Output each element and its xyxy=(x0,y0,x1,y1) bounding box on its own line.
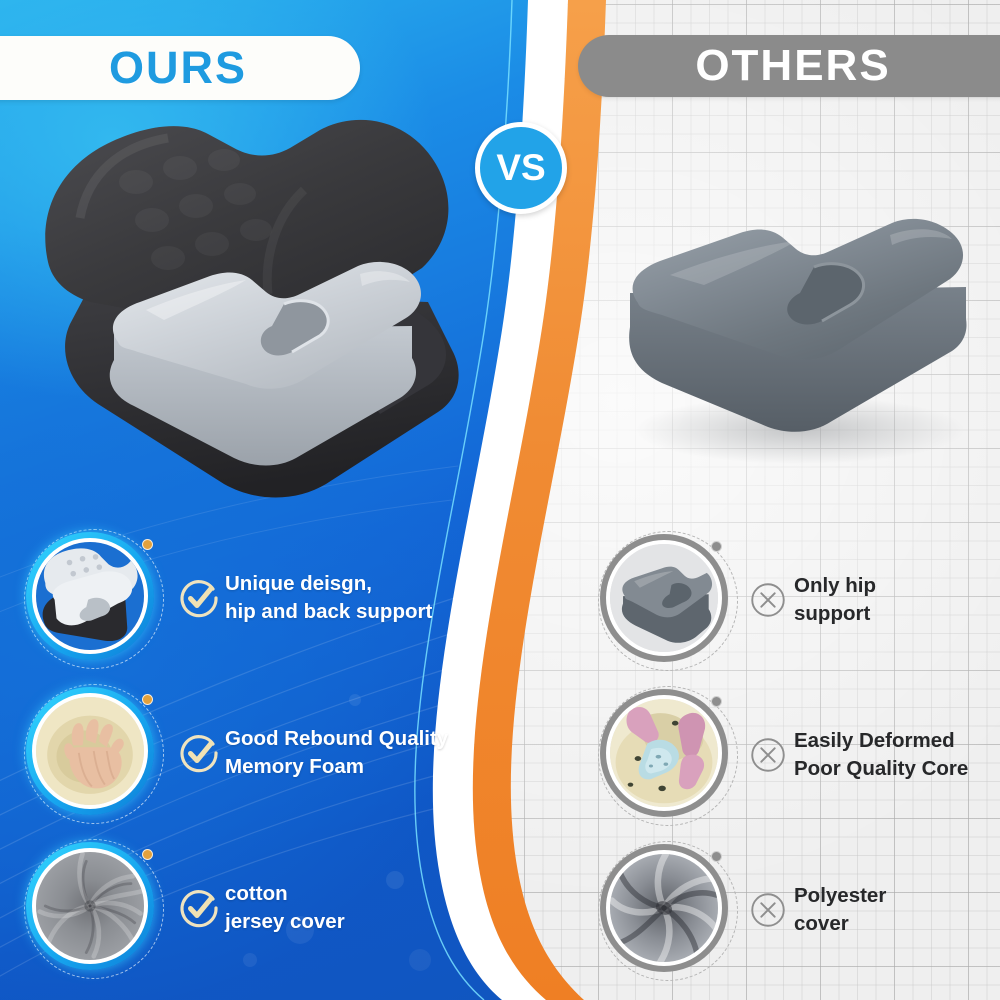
ours-feature-text: Unique deisgn, hip and back support xyxy=(225,570,432,625)
ours-banner-label: OURS xyxy=(109,42,247,94)
vs-badge-label: VS xyxy=(496,147,545,189)
cross-icon xyxy=(742,579,794,621)
ours-feature-row: cotton jersey cover xyxy=(18,830,488,985)
thumbnail-image xyxy=(32,693,148,809)
thumbnail-polyester-fabric xyxy=(592,835,742,985)
cross-icon xyxy=(742,734,794,776)
others-feature-text: Polyester cover xyxy=(794,882,886,937)
ours-feature-row: Unique deisgn, hip and back support xyxy=(18,520,488,675)
ring-dot-marker xyxy=(142,694,153,705)
others-feature-text: Only hip support xyxy=(794,572,876,627)
cross-icon xyxy=(742,889,794,931)
others-feature-text: Easily Deformed Poor Quality Core xyxy=(794,727,968,782)
thumbnail-image xyxy=(606,850,722,966)
ours-hero-cushion-image xyxy=(28,112,478,522)
check-icon xyxy=(173,886,225,930)
ours-banner: OURS xyxy=(0,36,360,100)
ring-dot-marker xyxy=(711,541,722,552)
thumbnail-seat-and-back-cushion xyxy=(18,523,173,673)
thumbnail-image xyxy=(606,540,722,656)
others-feature-list: Only hip support xyxy=(592,522,992,987)
ours-feature-text: Good Rebound Quality Memory Foam xyxy=(225,725,448,780)
thumbnail-image xyxy=(32,538,148,654)
ring-dot-marker xyxy=(711,851,722,862)
check-icon xyxy=(173,576,225,620)
others-hero-cushion-image xyxy=(600,175,990,475)
check-icon xyxy=(173,731,225,775)
ours-feature-row: Good Rebound Quality Memory Foam xyxy=(18,675,488,830)
ring-dot-marker xyxy=(142,849,153,860)
others-feature-row: Polyester cover xyxy=(592,832,992,987)
others-banner-label: OTHERS xyxy=(695,41,890,91)
vs-badge: VS xyxy=(475,122,567,214)
thumbnail-image xyxy=(32,848,148,964)
thumbnail-crumbling-foam-core xyxy=(592,680,742,830)
thumbnail-cotton-jersey-fabric xyxy=(18,833,173,983)
others-banner: OTHERS xyxy=(578,35,1000,97)
others-feature-row: Only hip support xyxy=(592,522,992,677)
ours-feature-list: Unique deisgn, hip and back support xyxy=(18,520,488,985)
thumbnail-image xyxy=(606,695,722,811)
others-feature-row: Easily Deformed Poor Quality Core xyxy=(592,677,992,832)
thumbnail-hand-pressing-memory-foam xyxy=(18,678,173,828)
ring-dot-marker xyxy=(711,696,722,707)
ours-feature-text: cotton jersey cover xyxy=(225,880,345,935)
comparison-infographic: OURS OTHERS VS xyxy=(0,0,1000,1000)
thumbnail-gray-seat-cushion xyxy=(592,525,742,675)
ring-dot-marker xyxy=(142,539,153,550)
